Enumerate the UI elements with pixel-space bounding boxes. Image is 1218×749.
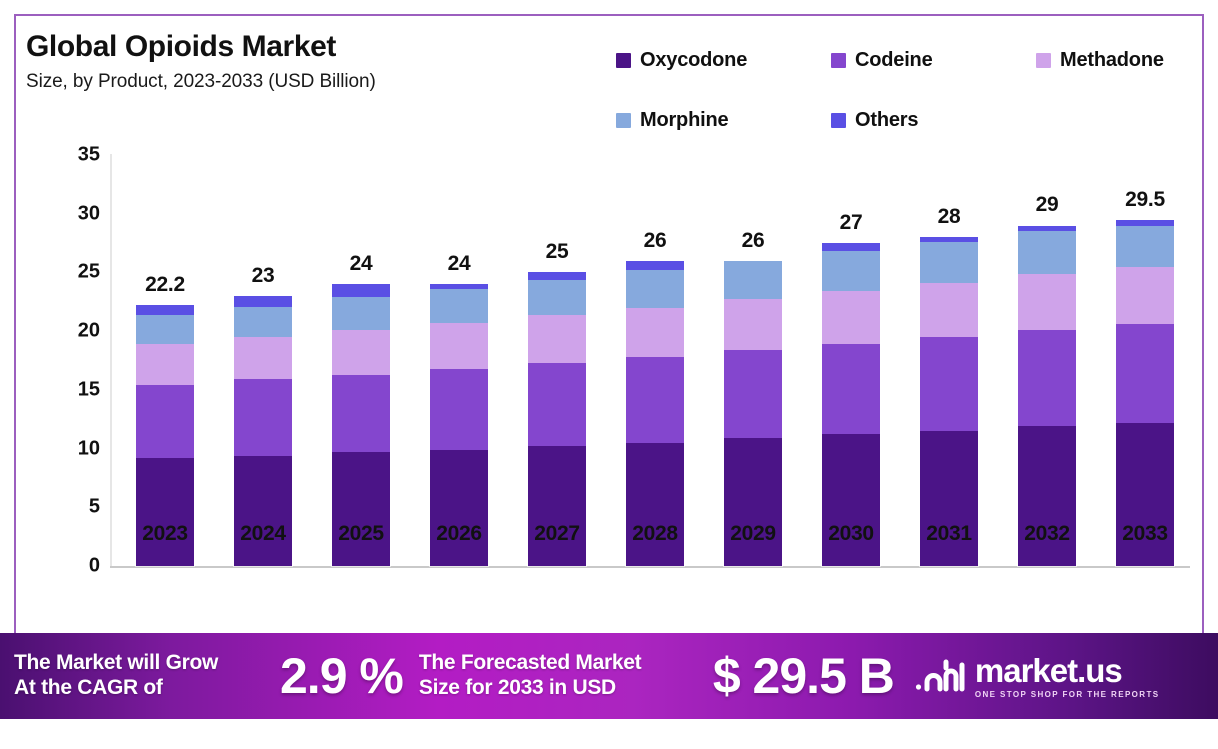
bar-segment-codeine[interactable] (234, 379, 292, 455)
cagr-value: 2.9 % (280, 647, 403, 705)
stacked-bar[interactable] (920, 237, 978, 566)
bar-segment-others[interactable] (822, 243, 880, 251)
bar-segment-oxycodone[interactable] (234, 456, 292, 566)
x-axis-tick-2033: 2033 (1096, 522, 1194, 546)
bar-segment-others[interactable] (332, 284, 390, 297)
forecast-label-line1: The Forecasted Market (419, 651, 711, 676)
bar-segment-methadone[interactable] (1018, 274, 1076, 330)
logo-tagline: ONE STOP SHOP FOR THE REPORTS (975, 690, 1160, 699)
x-axis-tick-2032: 2032 (998, 522, 1096, 546)
x-axis-tick-2028: 2028 (606, 522, 704, 546)
chart-card: Global Opioids Market Size, by Product, … (14, 14, 1204, 633)
bar-segment-oxycodone[interactable] (136, 458, 194, 566)
bar-group[interactable]: 22.22023 (116, 0, 214, 566)
cagr-label: The Market will Grow At the CAGR of (14, 651, 278, 701)
bar-segment-morphine[interactable] (724, 261, 782, 300)
forecast-value: $ 29.5 B (713, 647, 894, 705)
bar-group[interactable]: 29.52033 (1096, 0, 1194, 566)
bar-segment-oxycodone[interactable] (822, 434, 880, 566)
x-axis-tick-2023: 2023 (116, 522, 214, 546)
stacked-bar[interactable] (1018, 225, 1076, 566)
bar-total-label: 26 (704, 229, 802, 253)
bar-segment-codeine[interactable] (626, 357, 684, 443)
bar-segment-morphine[interactable] (1116, 226, 1174, 267)
bar-total-label: 29.5 (1096, 188, 1194, 212)
x-axis-tick-2024: 2024 (214, 522, 312, 546)
bar-group[interactable]: 252027 (508, 0, 606, 566)
bar-segment-morphine[interactable] (136, 315, 194, 344)
bar-segment-oxycodone[interactable] (430, 450, 488, 566)
bar-group[interactable]: 242026 (410, 0, 508, 566)
bar-segment-codeine[interactable] (822, 344, 880, 434)
x-axis-tick-2026: 2026 (410, 522, 508, 546)
bar-segment-codeine[interactable] (724, 350, 782, 438)
stacked-bar[interactable] (724, 261, 782, 566)
logo-name: market.us (975, 652, 1122, 689)
bar-total-label: 29 (998, 193, 1096, 217)
summary-banner: The Market will Grow At the CAGR of 2.9 … (0, 633, 1218, 719)
bar-segment-morphine[interactable] (528, 280, 586, 315)
bar-segment-others[interactable] (528, 272, 586, 279)
bar-segment-others[interactable] (626, 261, 684, 270)
bar-group[interactable]: 242025 (312, 0, 410, 566)
forecast-label: The Forecasted Market Size for 2033 in U… (419, 651, 711, 701)
bar-segment-oxycodone[interactable] (626, 443, 684, 566)
cagr-label-line2: At the CAGR of (14, 676, 278, 701)
bar-segment-morphine[interactable] (234, 307, 292, 338)
forecast-label-line2: Size for 2033 in USD (419, 676, 711, 701)
bar-total-label: 23 (214, 264, 312, 288)
bar-group[interactable]: 262029 (704, 0, 802, 566)
bar-segment-codeine[interactable] (1116, 324, 1174, 423)
market-us-logo[interactable]: market.us ONE STOP SHOP FOR THE REPORTS (914, 654, 1160, 699)
bar-group[interactable]: 232024 (214, 0, 312, 566)
bar-group[interactable]: 282031 (900, 0, 998, 566)
x-axis-tick-2029: 2029 (704, 522, 802, 546)
bar-total-label: 25 (508, 240, 606, 264)
bar-segment-methadone[interactable] (724, 299, 782, 349)
bar-total-label: 26 (606, 229, 704, 253)
bar-total-label: 28 (900, 205, 998, 229)
bar-total-label: 27 (802, 211, 900, 235)
chart-infographic: Global Opioids Market Size, by Product, … (0, 0, 1218, 749)
market-us-logo-text: market.us ONE STOP SHOP FOR THE REPORTS (975, 654, 1160, 699)
bar-segment-methadone[interactable] (626, 308, 684, 357)
bar-segment-methadone[interactable] (1116, 267, 1174, 325)
bar-segment-codeine[interactable] (528, 363, 586, 446)
stacked-bar[interactable] (822, 243, 880, 566)
bar-segment-methadone[interactable] (136, 344, 194, 385)
bar-group[interactable]: 272030 (802, 0, 900, 566)
bar-segment-methadone[interactable] (430, 323, 488, 369)
stacked-bar[interactable] (1116, 220, 1174, 566)
stacked-bar[interactable] (626, 261, 684, 566)
bar-segment-methadone[interactable] (234, 337, 292, 379)
bar-total-label: 24 (312, 252, 410, 276)
forecast-block: The Forecasted Market Size for 2033 in U… (403, 633, 894, 719)
plot-area: 05101520253035 22.2202323202424202524202… (16, 16, 1202, 631)
bar-segment-codeine[interactable] (1018, 330, 1076, 426)
market-us-logo-mark-icon (914, 656, 966, 696)
bar-group[interactable]: 292032 (998, 0, 1096, 566)
x-axis-tick-2030: 2030 (802, 522, 900, 546)
bar-segment-others[interactable] (234, 296, 292, 307)
bar-segment-others[interactable] (136, 305, 194, 314)
bar-total-label: 24 (410, 252, 508, 276)
bar-segment-morphine[interactable] (626, 270, 684, 308)
bar-segment-oxycodone[interactable] (528, 446, 586, 566)
bar-segment-methadone[interactable] (528, 315, 586, 363)
cagr-block: The Market will Grow At the CAGR of 2.9 … (0, 633, 403, 719)
bar-segment-morphine[interactable] (332, 297, 390, 330)
bar-segment-morphine[interactable] (1018, 231, 1076, 273)
bar-group[interactable]: 262028 (606, 0, 704, 566)
x-axis-tick-2027: 2027 (508, 522, 606, 546)
bar-total-label: 22.2 (116, 273, 214, 297)
cagr-label-line1: The Market will Grow (14, 651, 278, 676)
bar-segment-oxycodone[interactable] (724, 438, 782, 566)
x-axis-tick-2025: 2025 (312, 522, 410, 546)
bar-segment-codeine[interactable] (136, 385, 194, 458)
bar-segment-morphine[interactable] (430, 289, 488, 323)
bar-segment-codeine[interactable] (332, 375, 390, 453)
bar-segment-morphine[interactable] (920, 242, 978, 283)
bar-segment-methadone[interactable] (332, 330, 390, 375)
x-axis-tick-2031: 2031 (900, 522, 998, 546)
bar-segment-methadone[interactable] (920, 283, 978, 337)
bar-segment-morphine[interactable] (822, 251, 880, 291)
bar-segment-methadone[interactable] (822, 291, 880, 344)
bar-segment-codeine[interactable] (920, 337, 978, 431)
bar-series-container: 22.2202323202424202524202625202726202826… (16, 16, 1202, 631)
bar-segment-oxycodone[interactable] (332, 452, 390, 566)
bar-segment-codeine[interactable] (430, 369, 488, 450)
